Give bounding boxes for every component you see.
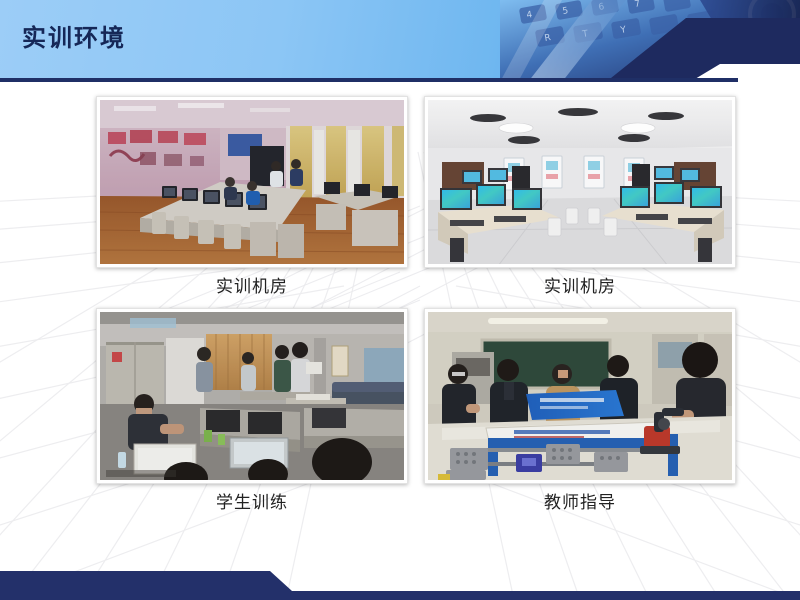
gallery-caption-3: 教师指导: [424, 494, 736, 513]
photo-frame-0[interactable]: [96, 96, 408, 268]
page-title: 实训环境: [22, 26, 126, 50]
photo-frame-2[interactable]: [96, 308, 408, 484]
footer-navy-band: [0, 571, 800, 600]
photo-frame-3[interactable]: [424, 308, 736, 484]
gallery-caption-1: 实训机房: [424, 278, 736, 297]
slide-实训环境: 4 5 6 7 R T Y: [0, 0, 800, 600]
slide-footer: [0, 554, 800, 600]
gallery-caption-2: 学生训练: [96, 494, 408, 513]
slide-header: 4 5 6 7 R T Y: [0, 0, 800, 82]
gallery-item-1[interactable]: 实训机房: [424, 96, 744, 297]
photo-image-3: [428, 312, 732, 480]
photo-image-2: [100, 312, 404, 480]
gallery-item-3[interactable]: 教师指导: [424, 308, 744, 513]
gallery-item-2[interactable]: 学生训练: [96, 308, 416, 513]
photo-frame-1[interactable]: [424, 96, 736, 268]
photo-image-0: [100, 100, 404, 264]
photo-image-1: [428, 100, 732, 264]
gallery-caption-0: 实训机房: [96, 278, 408, 297]
header-decorative-tech-art: 4 5 6 7 R T Y: [500, 0, 800, 82]
gallery-item-0[interactable]: 实训机房: [96, 96, 416, 297]
photo-gallery: 实训机房: [0, 96, 800, 536]
header-navy-rule: [0, 78, 738, 82]
